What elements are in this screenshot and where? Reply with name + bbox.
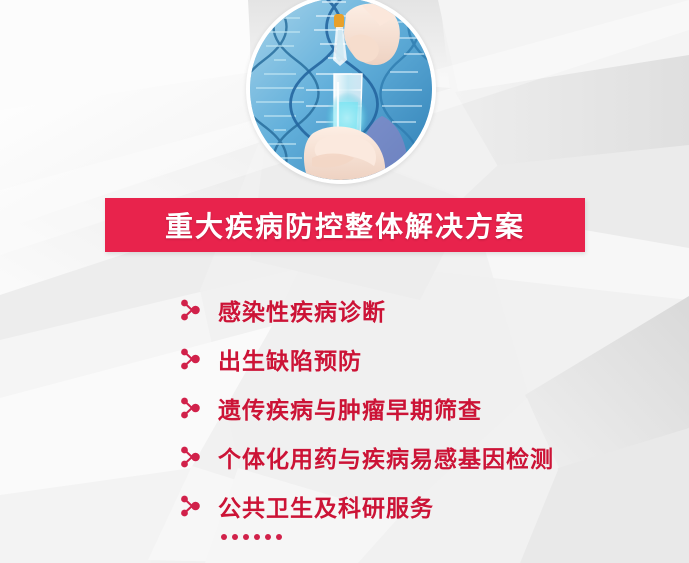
- molecule-node-icon: [178, 444, 204, 470]
- list-item-label: 个体化用药与疾病易感基因检测: [218, 440, 554, 474]
- ellipsis-dot: [243, 534, 249, 540]
- title-banner: 重大疾病防控整体解决方案: [105, 198, 585, 252]
- ellipsis-indicator: [221, 534, 282, 540]
- dna-helix-test-tube-photo: [250, 0, 432, 180]
- page-title: 重大疾病防控整体解决方案: [165, 205, 525, 245]
- dna-helix-illustration: [250, 0, 432, 180]
- feature-list: 感染性疾病诊断 出生缺陷预防: [178, 285, 678, 530]
- list-item[interactable]: 公共卫生及科研服务: [178, 481, 678, 530]
- molecule-node-icon: [178, 346, 204, 372]
- list-item[interactable]: 出生缺陷预防: [178, 334, 678, 383]
- list-item-label: 出生缺陷预防: [218, 342, 362, 376]
- list-item[interactable]: 遗传疾病与肿瘤早期筛查: [178, 383, 678, 432]
- ellipsis-dot: [221, 534, 227, 540]
- list-item-label: 公共卫生及科研服务: [218, 489, 434, 523]
- list-item[interactable]: 感染性疾病诊断: [178, 285, 678, 334]
- molecule-node-icon: [178, 395, 204, 421]
- molecule-node-icon: [178, 493, 204, 519]
- list-item[interactable]: 个体化用药与疾病易感基因检测: [178, 432, 678, 481]
- ellipsis-dot: [276, 534, 282, 540]
- ellipsis-dot: [254, 534, 260, 540]
- ellipsis-dot: [265, 534, 271, 540]
- list-item-label: 感染性疾病诊断: [218, 293, 386, 327]
- hero-photo-circle: [246, 0, 436, 184]
- molecule-node-icon: [178, 297, 204, 323]
- poster-root: 重大疾病防控整体解决方案 感染性疾病诊断: [0, 0, 689, 563]
- ellipsis-dot: [232, 534, 238, 540]
- list-item-label: 遗传疾病与肿瘤早期筛查: [218, 391, 482, 425]
